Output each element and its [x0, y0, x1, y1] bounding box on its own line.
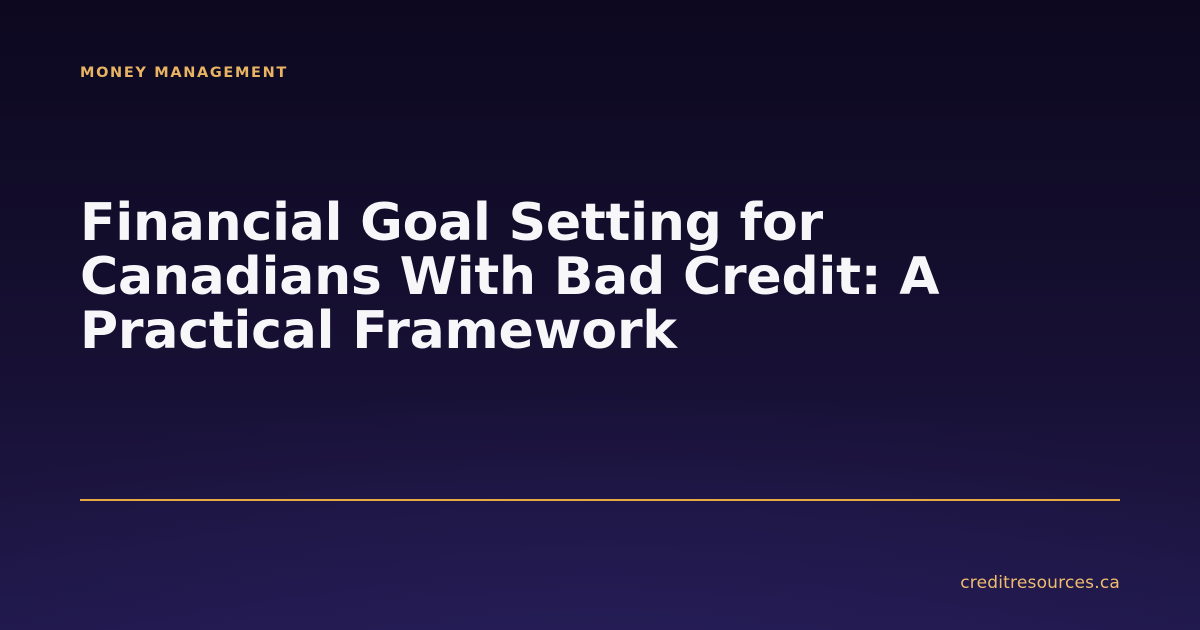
social-share-card: MONEY MANAGEMENT Financial Goal Setting … [0, 0, 1200, 630]
category-kicker: MONEY MANAGEMENT [80, 62, 288, 84]
divider-rule [80, 499, 1120, 501]
site-brand-label: creditresources.ca [80, 571, 1120, 595]
card-content: MONEY MANAGEMENT Financial Goal Setting … [0, 0, 1200, 630]
page-title: Financial Goal Setting for Canadians Wit… [80, 196, 1126, 358]
